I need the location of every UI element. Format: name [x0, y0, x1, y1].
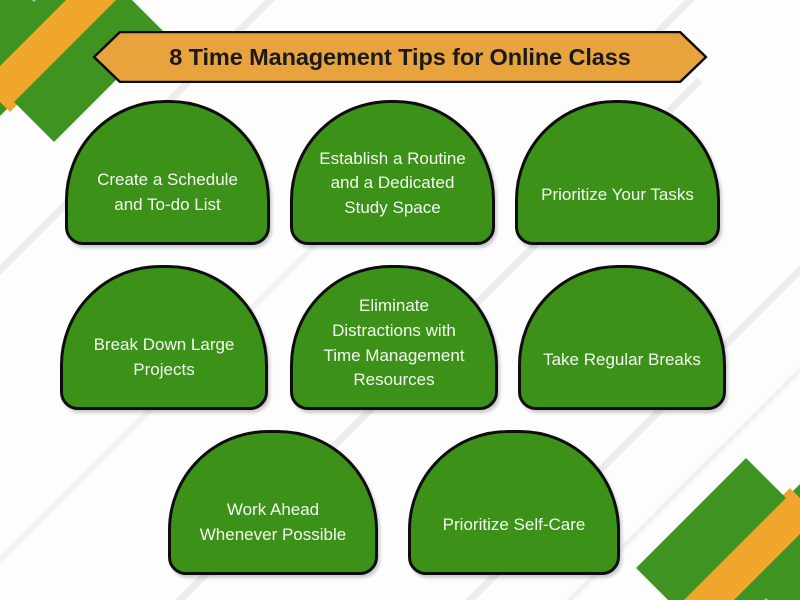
ribbon-stripe-green-inner	[636, 458, 786, 600]
ribbon-stripe-green-outer	[742, 474, 800, 600]
tip-card-4[interactable]: Break Down LargeProjects	[60, 265, 268, 410]
ribbon-stripe-green-upper	[706, 478, 800, 600]
tip-card-2-label: Establish a Routineand a DedicatedStudy …	[307, 147, 477, 221]
ribbon-stripe-green-outer	[0, 0, 58, 126]
tip-card-5-label: EliminateDistractions withTime Managemen…	[311, 294, 476, 393]
tip-card-6[interactable]: Take Regular Breaks	[518, 265, 726, 410]
page-title: 8 Time Management Tips for Online Class	[92, 31, 708, 83]
tip-card-3-label: Prioritize Your Tasks	[529, 183, 706, 208]
ribbon-stripe-orange	[680, 488, 800, 600]
title-banner: 8 Time Management Tips for Online Class	[92, 31, 708, 83]
ribbon-stripe-gray	[742, 542, 800, 600]
tip-card-6-label: Take Regular Breaks	[531, 348, 713, 373]
tip-card-4-label: Break Down LargeProjects	[82, 333, 247, 382]
tip-card-7-label: Work AheadWhenever Possible	[188, 498, 358, 547]
ribbon-stripe-green-upper	[0, 0, 94, 122]
tip-card-5[interactable]: EliminateDistractions withTime Managemen…	[290, 265, 498, 410]
tip-card-8[interactable]: Prioritize Self-Care	[408, 430, 620, 575]
tip-card-1[interactable]: Create a Scheduleand To-do List	[65, 100, 270, 245]
tip-card-1-label: Create a Scheduleand To-do List	[85, 168, 250, 217]
infographic-canvas: 8 Time Management Tips for Online Class …	[0, 0, 800, 600]
tip-card-3[interactable]: Prioritize Your Tasks	[515, 100, 720, 245]
tip-card-7[interactable]: Work AheadWhenever Possible	[168, 430, 378, 575]
tip-card-8-label: Prioritize Self-Care	[431, 513, 598, 538]
corner-ribbon-bottom-right	[624, 424, 800, 600]
ribbon-stripe-gray	[0, 0, 58, 58]
tip-card-2[interactable]: Establish a Routineand a DedicatedStudy …	[290, 100, 495, 245]
